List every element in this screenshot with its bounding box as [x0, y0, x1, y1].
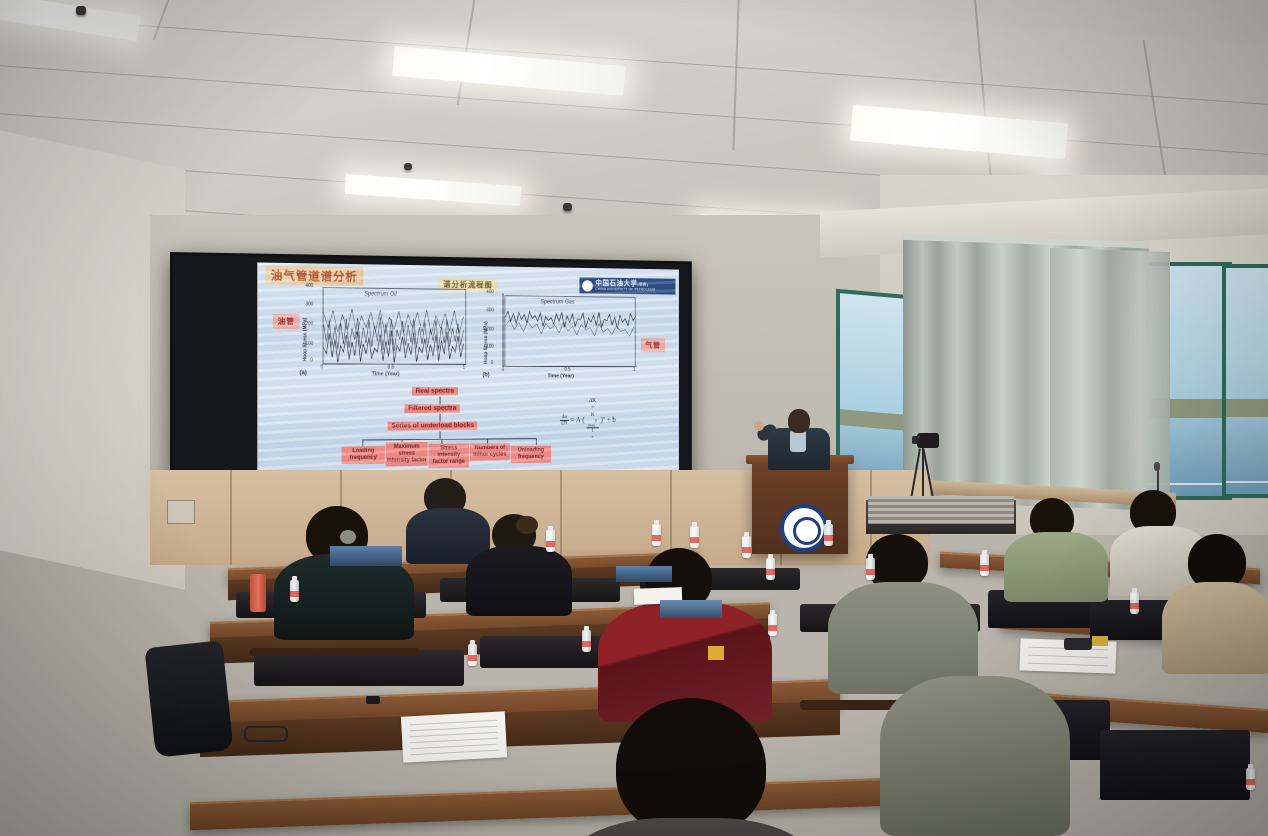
jacket-logo	[708, 646, 724, 660]
flow-step-real-spectra: Real spectra	[412, 387, 458, 396]
sprinkler-icon	[76, 6, 86, 15]
water-bottle[interactable]	[1246, 768, 1255, 790]
eq-max-sub: max	[588, 423, 595, 428]
eq-f-exp: n	[592, 434, 594, 439]
slide-title: 油气管道谱分析	[265, 266, 363, 286]
podium	[752, 462, 848, 554]
phone[interactable]	[366, 696, 380, 704]
eq-lhs: da dN	[560, 414, 569, 426]
water-bottle[interactable]	[742, 536, 751, 558]
flow-leaf-numbers-minor-cycles: Numbers of minor cycles	[470, 443, 510, 461]
sprinkler-icon	[404, 163, 412, 170]
remote-clicker[interactable]	[1064, 638, 1092, 650]
head	[616, 698, 766, 836]
cup-name-en: CHINA UNIVERSITY OF PETROLEUM	[595, 288, 655, 292]
chart-b-xtick-05: 0.5	[564, 367, 570, 373]
chart-spectrum-gas: Hoop Stress (MPa) 400 300 200 100 0 Spec…	[475, 291, 644, 383]
label-gas-pipe: 气管	[641, 338, 665, 352]
flow-drop-5	[536, 438, 537, 445]
presentation-slide: 油气管道谱分析 谱分析流程图 中国石油大学(华东) CHINA UNIVERSI…	[257, 262, 679, 499]
water-bottle[interactable]	[546, 530, 555, 552]
wall-outlet[interactable]	[167, 500, 195, 524]
speaker-shirt	[790, 430, 806, 452]
laptop-open[interactable]	[330, 546, 402, 566]
lecture-hall-photo: 油气管道谱分析 谱分析流程图 中国石油大学(华东) CHINA UNIVERSI…	[0, 0, 1268, 836]
water-bottle[interactable]	[980, 554, 989, 576]
chart-a-xtick-05: 0.5	[388, 365, 394, 371]
torso	[880, 676, 1070, 836]
eq-alpha: α	[592, 404, 594, 409]
chart-b-panel-label: (b)	[483, 373, 490, 379]
eq-equals: =	[570, 416, 574, 425]
backpack[interactable]	[144, 640, 233, 758]
paris-law-equation: da dN = A ( ΔKαKmaxβ fn )n + b	[560, 398, 616, 443]
flow-bus	[362, 438, 536, 440]
chart-a-xlabel: Time (Year)	[372, 371, 400, 377]
eq-tail: + b	[607, 415, 616, 424]
flow-leaf-loading-frequency: Loading frequency	[342, 446, 385, 464]
chart-b-xtick-1: 1	[633, 367, 635, 373]
flow-leaf-stress-intensity-factor-range: Stress intensity factor range	[429, 443, 469, 468]
eq-outer-exp: n	[603, 415, 605, 420]
water-bottle[interactable]	[652, 524, 661, 546]
hair-clip-icon	[340, 530, 356, 544]
laptop-open[interactable]	[616, 566, 672, 582]
curtain-secondary[interactable]	[1050, 248, 1170, 502]
eq-inner-fraction: ΔKαKmaxβ fn	[586, 398, 598, 443]
chair-armrest	[250, 648, 420, 656]
flow-step-filtered-spectra: Filtered spectra	[404, 404, 459, 413]
cup-suffix-cn: (华东)	[637, 282, 648, 287]
water-bottle[interactable]	[468, 644, 477, 666]
flow-trunk	[440, 431, 441, 439]
torso	[566, 818, 816, 836]
torso	[1004, 532, 1108, 602]
flow-leaf-unloading-frequency: Unloading frequency	[511, 446, 551, 464]
chart-a-xtick-1: 1	[463, 365, 466, 371]
eq-beta: β	[595, 418, 597, 423]
sprinkler-icon	[563, 203, 572, 211]
water-bottle[interactable]	[824, 524, 833, 546]
flow-drop-1	[362, 439, 363, 446]
video-camera[interactable]	[917, 433, 939, 448]
laptop-open[interactable]	[660, 600, 722, 618]
university-seal-icon	[780, 504, 828, 552]
thermos-cup[interactable]	[250, 574, 266, 612]
torso	[1162, 582, 1268, 674]
flow-step-underload-blocks: Series of underload blocks	[388, 421, 478, 430]
water-bottle[interactable]	[766, 558, 775, 580]
eq-paren-open: (	[582, 416, 584, 425]
cup-seal-icon	[582, 280, 593, 291]
chart-spectrum-oil: Hoop Stress (MPa) 400 300 200 100 0 Spec…	[294, 285, 472, 379]
water-bottle[interactable]	[290, 580, 299, 602]
flow-leaf-max-stress-intensity-factor: Maximum stress intensity factor	[386, 442, 428, 467]
water-bottle[interactable]	[768, 614, 777, 636]
presenter	[788, 409, 810, 433]
window-right-far	[1222, 264, 1268, 498]
chair-back[interactable]	[1100, 730, 1250, 800]
water-bottle[interactable]	[866, 558, 875, 580]
microphone-icon	[1154, 462, 1160, 471]
eyeglasses-icon[interactable]	[244, 726, 288, 742]
water-bottle[interactable]	[582, 630, 591, 652]
chart-b-xlabel: Time (Year)	[548, 374, 574, 380]
desk-row-4	[190, 778, 890, 830]
handout-document[interactable]	[401, 711, 507, 762]
eq-coefficient: A	[576, 416, 581, 425]
speaker-hand	[754, 421, 764, 431]
hair-bun	[516, 516, 538, 534]
torso	[466, 546, 572, 616]
water-bottle[interactable]	[1130, 592, 1139, 614]
radiator-grille	[868, 496, 1014, 524]
water-bottle[interactable]	[690, 526, 699, 548]
chart-a-panel-label: (a)	[300, 370, 307, 376]
chart-b-xtick-0: 0	[502, 367, 505, 373]
sticky-note	[1092, 636, 1108, 646]
chart-a-xtick-0: 0	[321, 364, 324, 370]
